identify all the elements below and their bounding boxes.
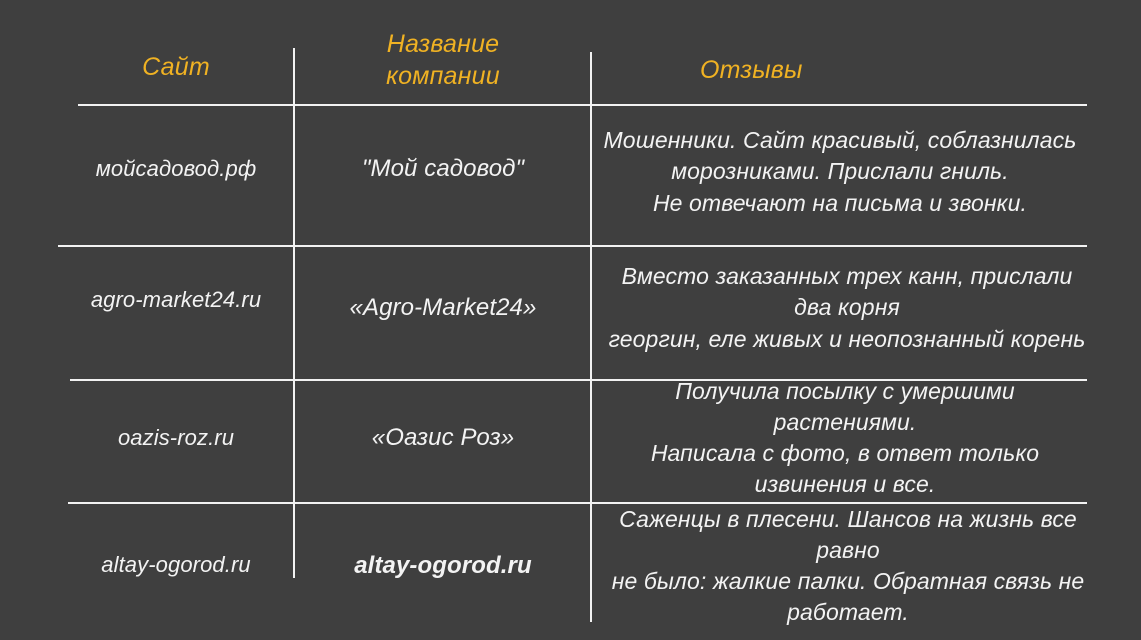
row-3-site-value: oazis-roz.ru [118, 425, 234, 451]
row-4-review-value: Саженцы в плесени. Шансов на жизнь все р… [608, 504, 1088, 628]
row-1-company-name: "Мой садовод" [295, 145, 591, 193]
row-4-company-name-value: altay-ogorod.ru [354, 552, 532, 580]
row-1-site: мойсадовод.рф [58, 146, 294, 192]
header-site: Сайт [58, 36, 294, 98]
header-reviews: Отзывы [592, 42, 1088, 98]
row-1-company-name-value: "Мой садовод" [362, 155, 524, 183]
row-4-site-value: altay-ogorod.ru [101, 552, 250, 578]
row-3-site: oazis-roz.ru [58, 415, 294, 461]
row-2-company-name: «Agro-Market24» [295, 284, 591, 332]
row-4-company-name: altay-ogorod.ru [295, 542, 591, 590]
row-2-review: Вместо заказанных трех канн, прислали дв… [592, 272, 1088, 344]
row-2-site: agro-market24.ru [58, 277, 294, 323]
header-company-name: Название компании [295, 22, 591, 98]
row-2-site-value: agro-market24.ru [91, 287, 261, 313]
header-divider [78, 104, 1087, 106]
row-3-review-value: Получила посылку с умершими растениями. … [602, 376, 1088, 500]
row-divider-1 [58, 245, 1087, 247]
header-reviews-label: Отзывы [700, 54, 803, 86]
row-2-review-value: Вместо заказанных трех канн, прислали дв… [606, 261, 1088, 354]
header-site-label: Сайт [142, 51, 210, 83]
row-3-company-name-value: «Оазис Роз» [372, 424, 514, 452]
row-3-company-name: «Оазис Роз» [295, 414, 591, 462]
row-1-review-value: Мошенники. Сайт красивый, соблазнилась м… [604, 125, 1077, 218]
header-company-name-label: Название компании [386, 28, 500, 92]
row-4-site: altay-ogorod.ru [58, 542, 294, 588]
row-4-review: Саженцы в плесени. Шансов на жизнь все р… [592, 512, 1088, 620]
row-1-site-value: мойсадовод.рф [96, 156, 257, 182]
reviews-table: Сайт Название компании Отзывы мойсадовод… [0, 0, 1141, 640]
row-3-review: Получила посылку с умершими растениями. … [592, 402, 1088, 474]
row-2-company-name-value: «Agro-Market24» [350, 294, 537, 322]
row-1-review: Мошенники. Сайт красивый, соблазнилась м… [592, 122, 1088, 222]
